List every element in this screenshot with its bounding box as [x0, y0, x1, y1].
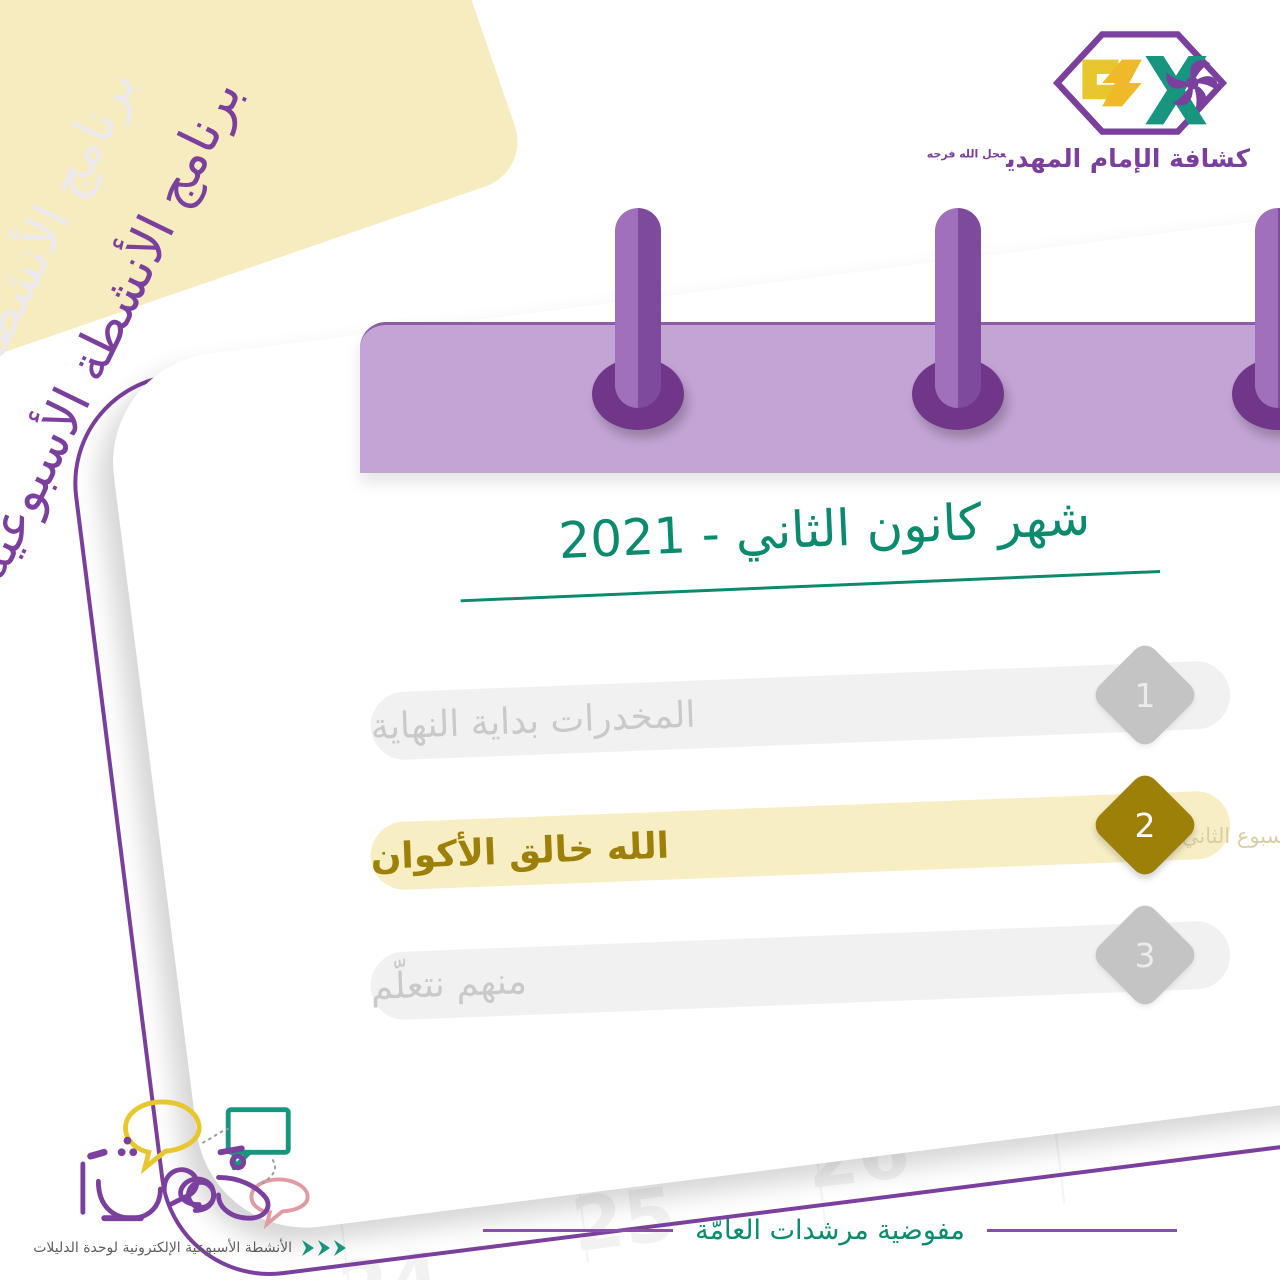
brand-logo-block: كشافة الإمام المهديعجل الله فرجه — [1030, 28, 1250, 173]
activity-row[interactable]: الله خالق الأكوان 2 أسبوع الثاني — [0, 790, 1280, 870]
brand-honorific: عجل الله فرجه — [927, 148, 1006, 161]
poster-canvas: Sun Mon Tue Wed Thu 3 4 5 6 7 10 11 12 1… — [0, 0, 1280, 1280]
activity-title: المخدرات بداية النهاية — [370, 694, 696, 747]
activity-number: 2 — [1135, 806, 1156, 845]
activity-pill[interactable]: الله خالق الأكوان — [369, 790, 1231, 891]
footer-text: مفوضية مرشدات العامّة — [695, 1215, 965, 1246]
activity-number: 1 — [1135, 676, 1156, 715]
activity-number-badge: 2 — [1090, 770, 1200, 880]
footer-divider-left — [483, 1229, 673, 1232]
activity-number-badge: 3 — [1090, 900, 1200, 1010]
activity-pill[interactable]: المخدرات بداية النهاية — [369, 660, 1231, 761]
page-title-wrap: شهر كانون الثاني - 2021 — [0, 488, 1280, 546]
brand-name-text: كشافة الإمام المهدي — [1006, 144, 1250, 173]
page-title: شهر كانون الثاني - 2021 — [557, 488, 1091, 570]
activity-title: الله خالق الأكوان — [370, 825, 670, 877]
footer: مفوضية مرشدات العامّة — [0, 1208, 1280, 1252]
hexagon-scout-logo-icon — [1050, 28, 1230, 138]
activity-number-badge: 1 — [1090, 640, 1200, 750]
activity-title: منهم نتعلّم — [370, 961, 528, 1008]
activity-row[interactable]: المخدرات بداية النهاية 1 — [0, 660, 1280, 740]
activity-number: 3 — [1135, 936, 1156, 975]
activity-pill[interactable]: منهم نتعلّم — [369, 920, 1231, 1021]
footer-divider-right — [987, 1229, 1177, 1232]
activity-list: المخدرات بداية النهاية 1 الله خالق الأكو… — [0, 660, 1280, 1050]
title-underline — [461, 570, 1161, 602]
week-label: أسبوع الثاني — [1182, 824, 1280, 848]
activity-row[interactable]: منهم نتعلّم 3 — [0, 920, 1280, 1000]
brand-name: كشافة الإمام المهديعجل الله فرجه — [1030, 144, 1250, 173]
